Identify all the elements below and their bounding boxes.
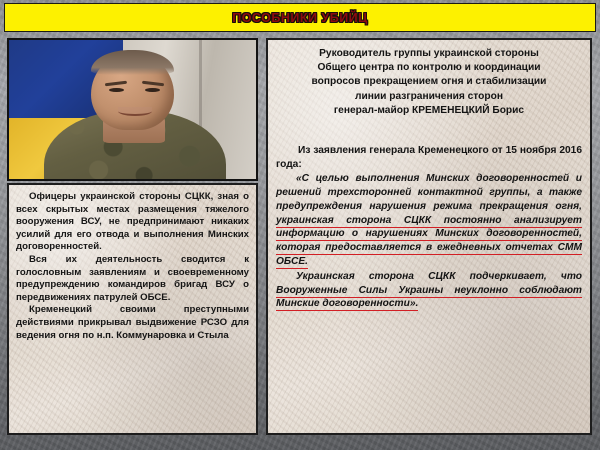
header-line-4: линии разграничения сторон bbox=[276, 90, 582, 104]
quote-plain-1: «С целью выполнения Минских договореннос… bbox=[276, 173, 582, 212]
quote-block: «С целью выполнения Минских договореннос… bbox=[276, 172, 582, 311]
header-line-1: Руководитель группы украинской стороны bbox=[276, 47, 582, 61]
left-paragraph-1: Офицеры украинской стороны СЦКК, зная о … bbox=[16, 191, 249, 254]
quote-plain-2: Украинская сторона СЦКК подчеркивает, чт… bbox=[296, 271, 582, 282]
right-panel-inner: Руководитель группы украинской стороны О… bbox=[268, 40, 590, 317]
header-line-3: вопросов прекращением огня и стабилизаци… bbox=[276, 75, 582, 89]
left-text-panel: Офицеры украинской стороны СЦКК, зная о … bbox=[7, 183, 258, 435]
right-panel: Руководитель группы украинской стороны О… bbox=[266, 38, 592, 435]
banner: ПОСОБНИКИ УБИЙЦ bbox=[4, 3, 596, 32]
header-line-5: генерал-майор КРЕМЕНЕЦКИЙ Борис bbox=[276, 104, 582, 118]
photo-scene bbox=[9, 40, 256, 179]
quote-attribution-text: Из заявления генерала Кременецкого от 15… bbox=[276, 144, 582, 171]
header-line-2: Общего центра по контролю и координации bbox=[276, 61, 582, 75]
portrait-photo bbox=[7, 38, 258, 181]
right-panel-header: Руководитель группы украинской стороны О… bbox=[276, 47, 582, 118]
banner-title: ПОСОБНИКИ УБИЙЦ bbox=[232, 11, 368, 25]
eye-left bbox=[109, 88, 124, 92]
left-paragraph-3: Кременецкий своими преступными действиям… bbox=[16, 304, 249, 342]
quote-attribution: Из заявления генерала Кременецкого от 15… bbox=[276, 144, 582, 171]
quote-underlined-1: украинская сторона СЦКК постоянно анализ… bbox=[276, 215, 582, 269]
left-text-body: Офицеры украинской стороны СЦКК, зная о … bbox=[9, 185, 256, 346]
left-paragraph-2: Вся их деятельность сводится к голословн… bbox=[16, 254, 249, 304]
quote-underlined-2: Вооруженные Силы Украины неуклонно соблю… bbox=[276, 285, 582, 312]
eye-right bbox=[145, 88, 160, 92]
header-body-spacer bbox=[276, 118, 582, 144]
quote-paragraph-2: Украинская сторона СЦКК подчеркивает, чт… bbox=[276, 270, 582, 311]
quote-paragraph-1: «С целью выполнения Минских договореннос… bbox=[276, 172, 582, 269]
